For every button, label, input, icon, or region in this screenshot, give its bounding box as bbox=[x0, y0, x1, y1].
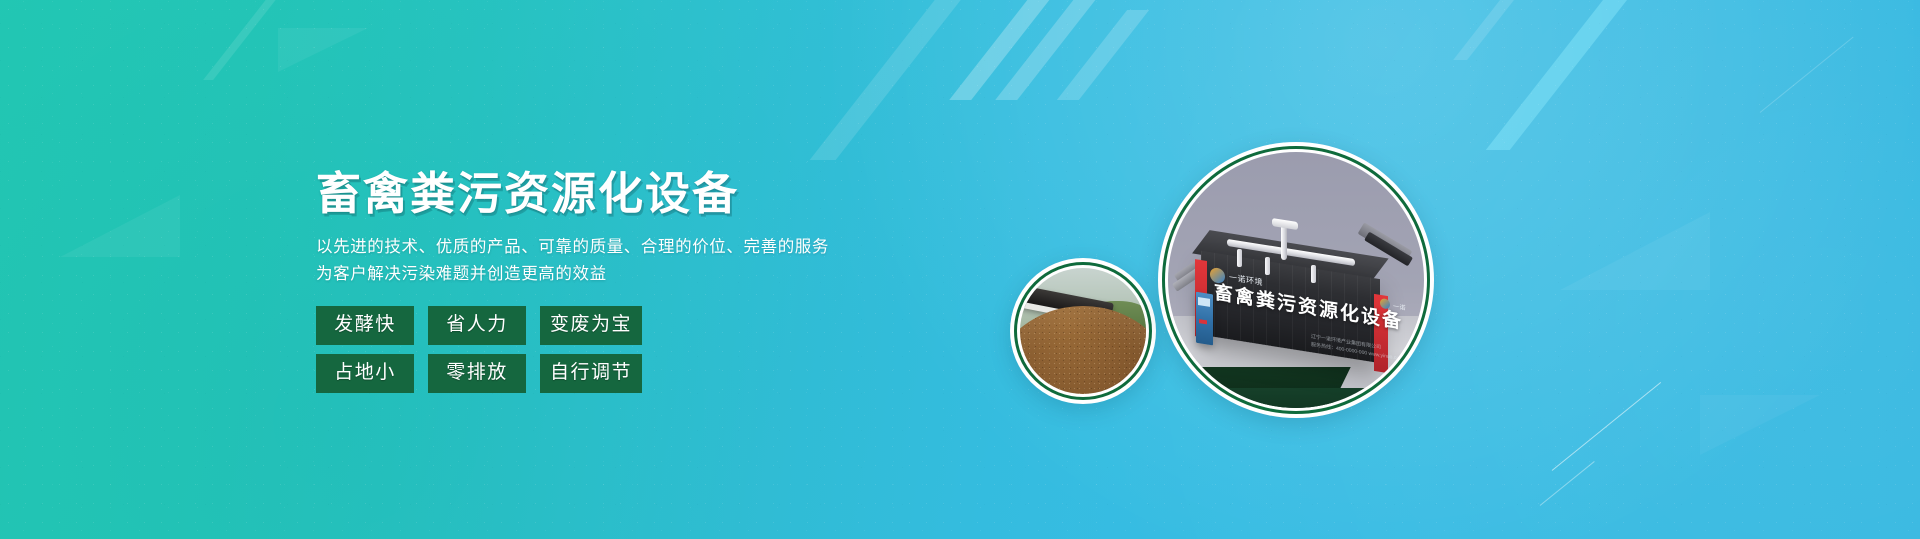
equipment-grass-strip-2 bbox=[1168, 388, 1424, 408]
feature-tag-fermentation-fast[interactable]: 发酵快 bbox=[316, 306, 414, 345]
equipment-pipe-stub-c bbox=[1311, 265, 1316, 283]
feature-tag-waste-to-treasure[interactable]: 变废为宝 bbox=[540, 306, 642, 345]
diagonal-slash-highlight bbox=[1486, 0, 1658, 150]
headline-block: 畜禽粪污资源化设备 以先进的技术、优质的产品、可靠的质量、合理的价位、完善的服务… bbox=[316, 168, 936, 393]
cabinet-button bbox=[1199, 319, 1207, 325]
compost-pile bbox=[1020, 306, 1146, 394]
diagonal-slash-4 bbox=[1057, 10, 1149, 100]
subtitle-line-1: 以先进的技术、优质的产品、可靠的质量、合理的价位、完善的服务 bbox=[316, 234, 936, 261]
compost-grain-texture bbox=[1020, 306, 1146, 394]
background-glow bbox=[0, 0, 1920, 539]
feature-tag-grid: 发酵快 省人力 变废为宝 占地小 零排放 自行调节 bbox=[316, 306, 936, 393]
diagonal-slash-1 bbox=[810, 0, 977, 160]
diagonal-slash-5 bbox=[1453, 0, 1561, 60]
page-title: 畜禽粪污资源化设备 bbox=[316, 168, 936, 220]
hairline-2 bbox=[1540, 461, 1595, 506]
equipment-vertical-pipe bbox=[1281, 224, 1287, 260]
feature-tag-small-footprint[interactable]: 占地小 bbox=[316, 354, 414, 393]
brand-mark-icon-right bbox=[1380, 298, 1390, 310]
equipment-photo-circle[interactable]: 一诺环境 畜禽粪污资源化设备 辽宁一诺环境产业集团有限公司 服务热线：400-0… bbox=[1158, 142, 1434, 418]
compost-photo: 堆肥 bbox=[1020, 268, 1146, 394]
equipment-photo: 一诺环境 畜禽粪污资源化设备 辽宁一诺环境产业集团有限公司 服务热线：400-0… bbox=[1168, 152, 1424, 408]
feature-tag-labor-saving[interactable]: 省人力 bbox=[428, 306, 526, 345]
deco-triangle-right bbox=[1560, 212, 1710, 290]
equipment-pipe-stub-b bbox=[1265, 257, 1270, 275]
diagonal-slash-3 bbox=[995, 0, 1119, 100]
hairline-1 bbox=[1552, 382, 1661, 471]
diagonal-slash-2 bbox=[949, 0, 1073, 100]
feature-tag-self-adjusting[interactable]: 自行调节 bbox=[540, 354, 642, 393]
equipment-pipe-stub-a bbox=[1237, 249, 1242, 267]
brand-name-text-right: 一诺 bbox=[1393, 301, 1406, 312]
subtitle-line-2: 为客户解决污染难题并创造更高的效益 bbox=[316, 261, 936, 288]
compost-photo-circle[interactable]: 堆肥 bbox=[1010, 258, 1156, 404]
deco-triangle-bottomright bbox=[1700, 395, 1820, 455]
hairline-3 bbox=[1760, 37, 1854, 113]
diagonal-slash-6 bbox=[203, 0, 307, 80]
deco-triangle-left bbox=[60, 195, 180, 257]
promo-banner: 畜禽粪污资源化设备 以先进的技术、优质的产品、可靠的质量、合理的价位、完善的服务… bbox=[0, 0, 1920, 539]
cabinet-screen bbox=[1198, 297, 1210, 307]
equipment-control-cabinet bbox=[1196, 291, 1213, 345]
deco-triangle-topleft bbox=[278, 28, 368, 72]
background-noise-texture bbox=[0, 0, 1920, 539]
feature-tag-zero-emission[interactable]: 零排放 bbox=[428, 354, 526, 393]
